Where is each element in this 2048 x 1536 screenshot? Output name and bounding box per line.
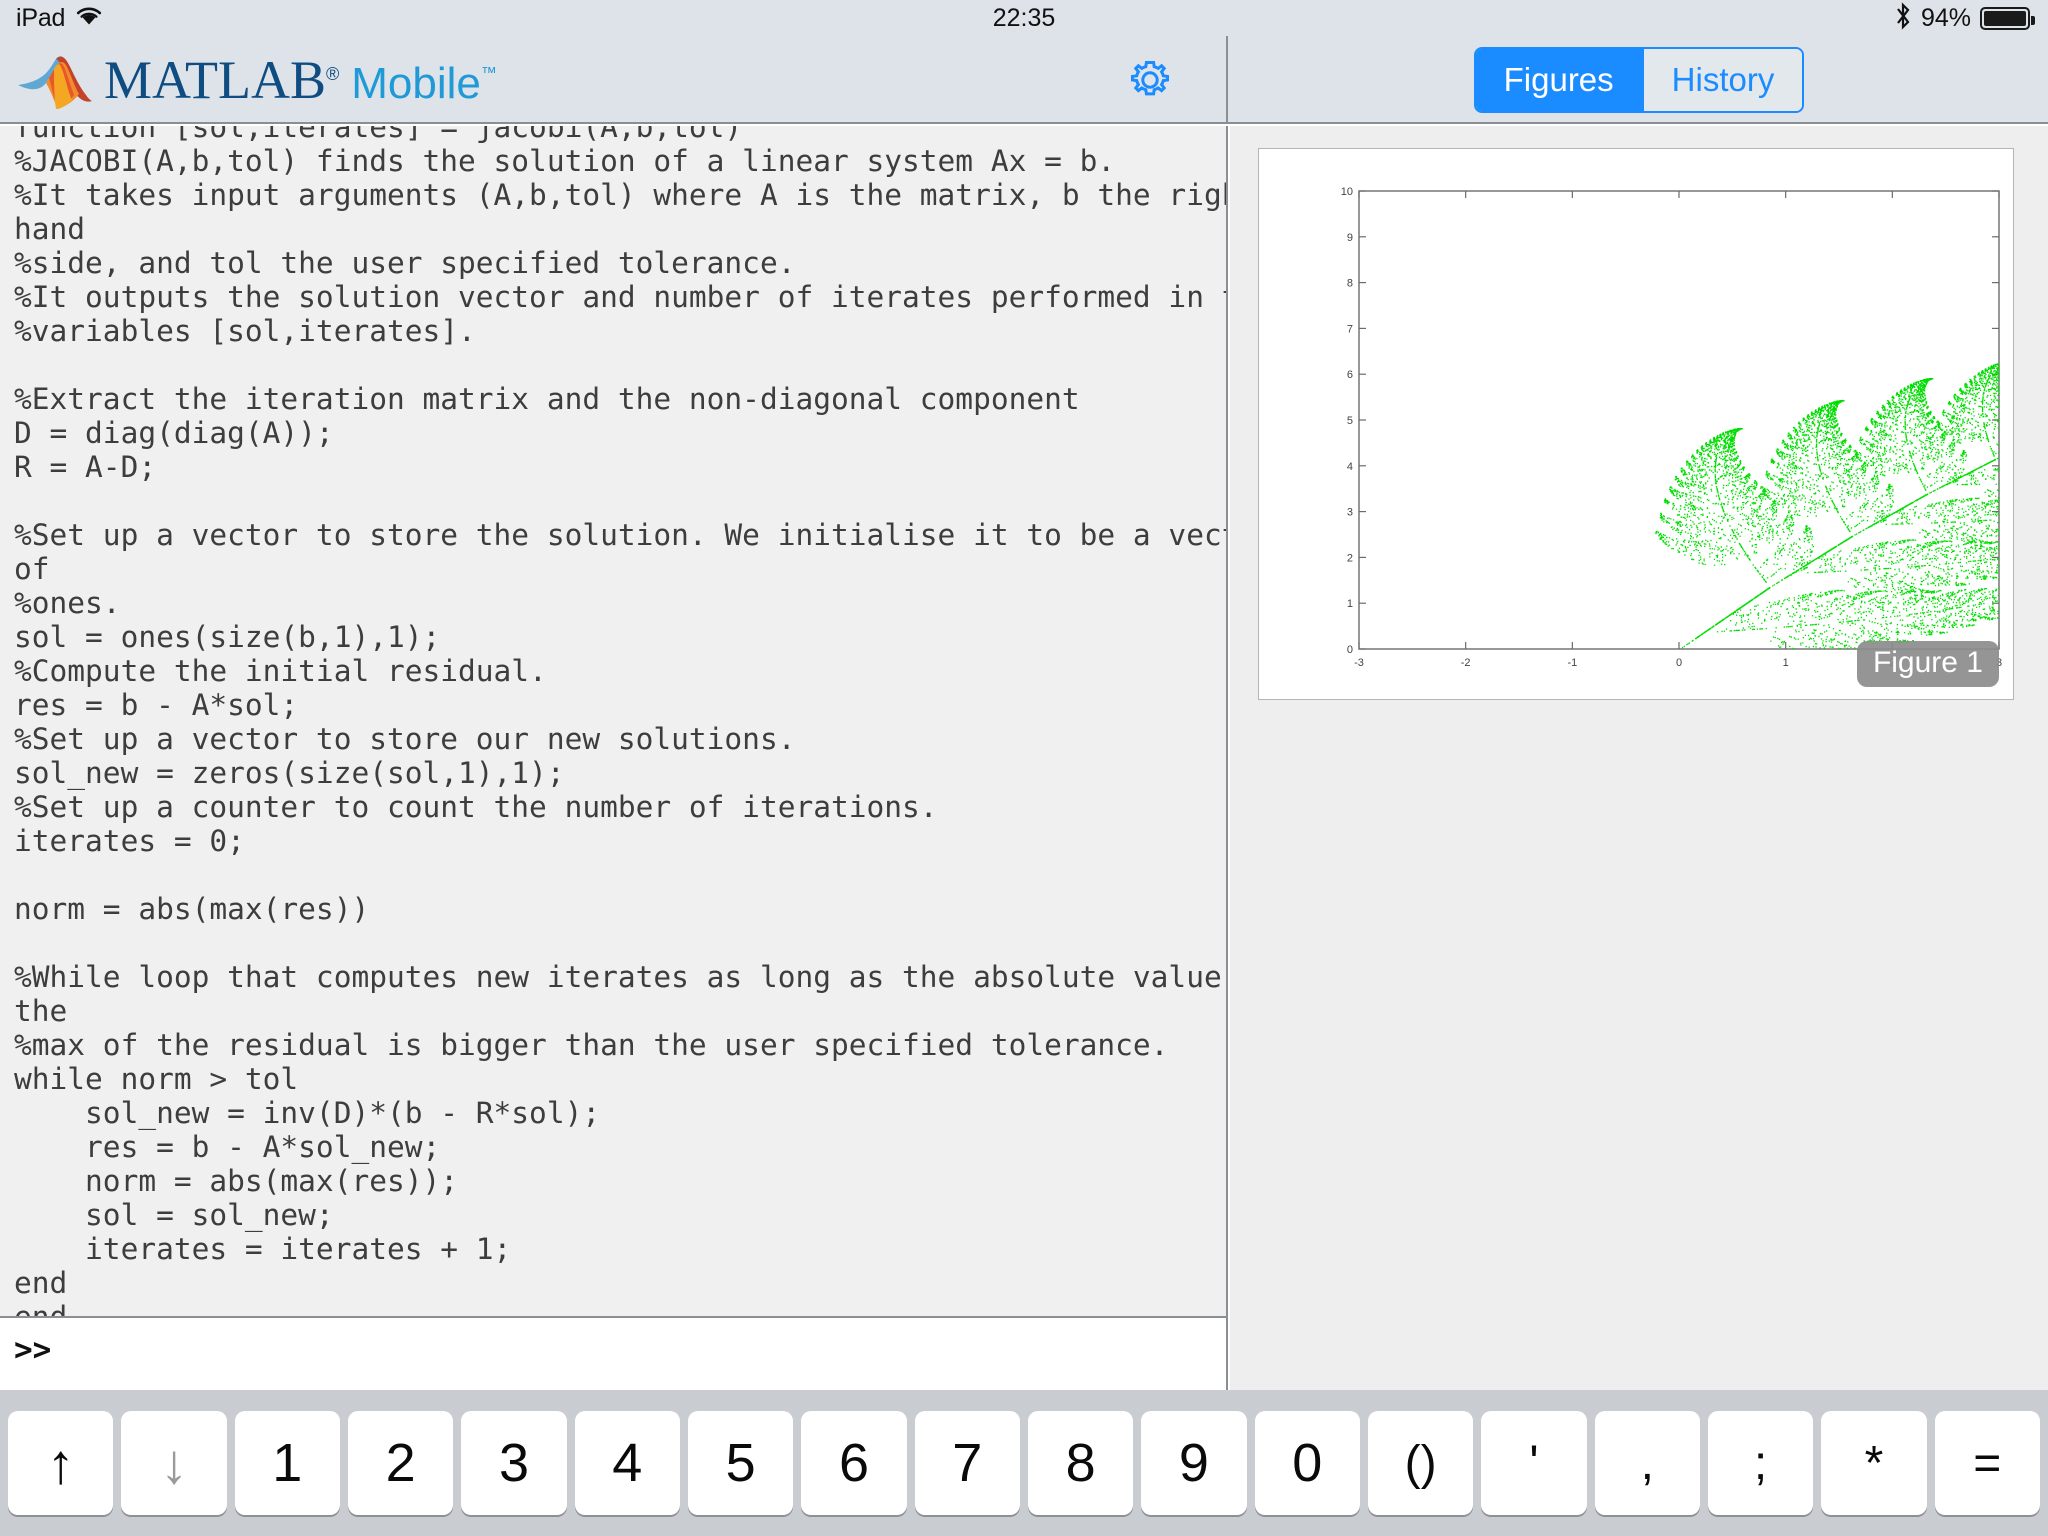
- code-line: end: [14, 1300, 1212, 1316]
- code-line: norm = abs(max(res));: [14, 1164, 1212, 1198]
- code-line: of: [14, 552, 1212, 586]
- code-line: function [sol,iterates] = jacobi(A,b,tol…: [14, 126, 1212, 144]
- matlab-mobile-logo: MATLAB ® Mobile ™: [16, 49, 497, 111]
- svg-text:4: 4: [1347, 461, 1353, 473]
- svg-text:1: 1: [1783, 657, 1789, 669]
- key-comma[interactable]: ,: [1595, 1411, 1700, 1515]
- logo-wordmark: MATLAB ® Mobile ™: [104, 49, 497, 111]
- matlab-membrane-icon: [16, 51, 92, 111]
- key-arrow-down[interactable]: ↓: [121, 1411, 226, 1515]
- fern-scatter-plot: -3-2-10123012345678910: [1259, 149, 2015, 701]
- battery-icon: [1980, 7, 2030, 30]
- code-line: %Set up a vector to store our new soluti…: [14, 722, 1212, 756]
- logo-mobile-text: Mobile: [351, 59, 481, 109]
- svg-text:9: 9: [1347, 232, 1353, 244]
- code-line: while norm > tol: [14, 1062, 1212, 1096]
- tab-figures[interactable]: Figures: [1476, 49, 1642, 110]
- code-line: %Extract the iteration matrix and the no…: [14, 382, 1212, 416]
- code-line: iterates = iterates + 1;: [14, 1232, 1212, 1266]
- code-line: %JACOBI(A,b,tol) finds the solution of a…: [14, 144, 1212, 178]
- accessory-keyboard: ↑↓1234567890()',;*=: [0, 1390, 2048, 1536]
- key-equals[interactable]: =: [1935, 1411, 2040, 1515]
- svg-text:1: 1: [1347, 598, 1353, 610]
- figure-card[interactable]: -3-2-10123012345678910 Figure 1: [1258, 148, 2014, 700]
- key-parentheses[interactable]: (): [1368, 1411, 1473, 1515]
- tab-history[interactable]: History: [1642, 49, 1803, 110]
- code-line: sol = ones(size(b,1),1);: [14, 620, 1212, 654]
- code-line: %max of the residual is bigger than the …: [14, 1028, 1212, 1062]
- code-line: %side, and tol the user specified tolera…: [14, 246, 1212, 280]
- code-line: sol_new = inv(D)*(b - R*sol);: [14, 1096, 1212, 1130]
- code-line: %Set up a counter to count the number of…: [14, 790, 1212, 824]
- key-6[interactable]: 6: [801, 1411, 906, 1515]
- svg-text:-2: -2: [1461, 657, 1471, 669]
- key-8[interactable]: 8: [1028, 1411, 1133, 1515]
- key-asterisk[interactable]: *: [1821, 1411, 1926, 1515]
- svg-text:6: 6: [1347, 369, 1353, 381]
- code-line: %Compute the initial residual.: [14, 654, 1212, 688]
- key-9[interactable]: 9: [1141, 1411, 1246, 1515]
- bluetooth-icon: [1894, 2, 1912, 35]
- figure-badge: Figure 1: [1857, 641, 1999, 687]
- code-line: %Set up a vector to store the solution. …: [14, 518, 1212, 552]
- fern-points: [1655, 362, 2002, 652]
- figures-history-segmented-control[interactable]: Figures History: [1474, 47, 1805, 112]
- key-2[interactable]: 2: [348, 1411, 453, 1515]
- code-line: [14, 348, 1212, 382]
- svg-text:0: 0: [1676, 657, 1682, 669]
- code-line: %It takes input arguments (A,b,tol) wher…: [14, 178, 1212, 212]
- code-line: norm = abs(max(res)): [14, 892, 1212, 926]
- svg-text:7: 7: [1347, 323, 1353, 335]
- key-arrow-up[interactable]: ↑: [8, 1411, 113, 1515]
- figures-pane: -3-2-10123012345678910 Figure 1: [1230, 126, 2048, 1390]
- logo-trademark-mark: ™: [481, 65, 497, 83]
- code-editor[interactable]: function [sol,iterates] = jacobi(A,b,tol…: [0, 126, 1228, 1316]
- battery-percent: 94%: [1921, 4, 1971, 33]
- key-apostrophe[interactable]: ': [1481, 1411, 1586, 1515]
- svg-text:5: 5: [1347, 415, 1353, 427]
- code-line: sol = sol_new;: [14, 1198, 1212, 1232]
- app-root: iPad 22:35 94%: [0, 0, 2048, 1536]
- code-line: res = b - A*sol;: [14, 688, 1212, 722]
- code-line: end: [14, 1266, 1212, 1300]
- code-line: %While loop that computes new iterates a…: [14, 960, 1212, 994]
- svg-text:0: 0: [1347, 644, 1353, 656]
- toolbar-left: MATLAB ® Mobile ™: [0, 36, 1228, 124]
- key-4[interactable]: 4: [575, 1411, 680, 1515]
- status-bar-right: 94%: [1894, 0, 2030, 36]
- code-line: %It outputs the solution vector and numb…: [14, 280, 1212, 314]
- key-5[interactable]: 5: [688, 1411, 793, 1515]
- code-line: %variables [sol,iterates].: [14, 314, 1212, 348]
- svg-text:-3: -3: [1354, 657, 1364, 669]
- code-line: [14, 858, 1212, 892]
- code-line: [14, 484, 1212, 518]
- key-1[interactable]: 1: [235, 1411, 340, 1515]
- svg-text:10: 10: [1341, 186, 1353, 198]
- code-line: %ones.: [14, 586, 1212, 620]
- svg-text:2: 2: [1347, 552, 1353, 564]
- svg-text:3: 3: [1347, 507, 1353, 519]
- toolbar-right: Figures History: [1230, 36, 2048, 124]
- code-line: [14, 926, 1212, 960]
- logo-matlab-text: MATLAB: [104, 49, 326, 111]
- code-line: hand: [14, 212, 1212, 246]
- code-line: the: [14, 994, 1212, 1028]
- svg-text:8: 8: [1347, 278, 1353, 290]
- clock: 22:35: [0, 4, 2048, 33]
- app-toolbar: MATLAB ® Mobile ™ Figures History: [0, 36, 2048, 124]
- code-line: iterates = 0;: [14, 824, 1212, 858]
- command-prompt-input[interactable]: >>: [14, 1332, 1226, 1368]
- code-line: D = diag(diag(A));: [14, 416, 1212, 450]
- status-bar: iPad 22:35 94%: [0, 0, 2048, 36]
- code-line: res = b - A*sol_new;: [14, 1130, 1212, 1164]
- key-semicolon[interactable]: ;: [1708, 1411, 1813, 1515]
- code-line: sol_new = zeros(size(sol,1),1);: [14, 756, 1212, 790]
- key-7[interactable]: 7: [915, 1411, 1020, 1515]
- key-0[interactable]: 0: [1255, 1411, 1360, 1515]
- svg-text:-1: -1: [1567, 657, 1577, 669]
- command-prompt-bar[interactable]: >>: [0, 1316, 1228, 1390]
- gear-icon[interactable]: [1126, 56, 1174, 104]
- logo-registered-mark: ®: [326, 64, 339, 85]
- code-editor-text[interactable]: function [sol,iterates] = jacobi(A,b,tol…: [0, 126, 1226, 1316]
- key-3[interactable]: 3: [461, 1411, 566, 1515]
- code-line: R = A-D;: [14, 450, 1212, 484]
